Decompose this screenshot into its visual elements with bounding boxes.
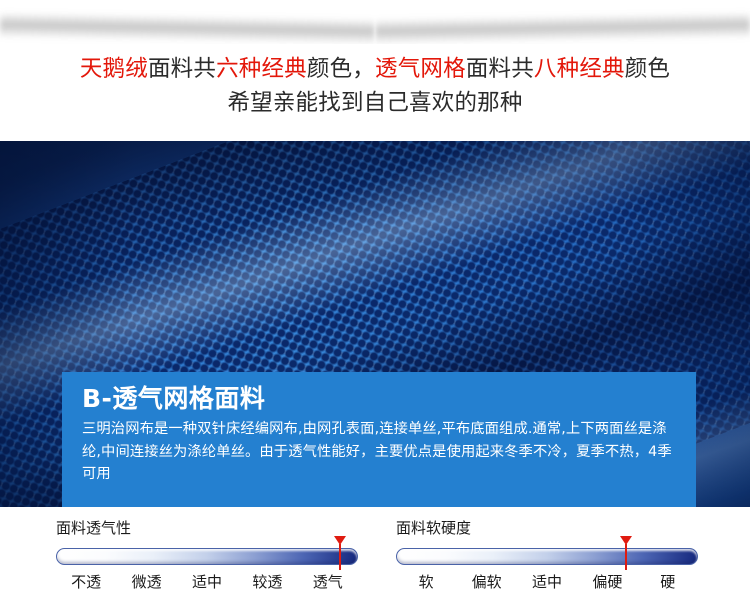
meter-scale-label-breathability-3: 较透	[252, 571, 282, 592]
headline-line-2: 希望亲能找到自己喜欢的那种	[0, 86, 750, 120]
headline-line-1: 天鹅绒面料共六种经典颜色，透气网格面料共八种经典颜色	[0, 52, 750, 86]
top-shadow-right	[375, 0, 750, 44]
meter-scale-softness: 软偏软适中偏硬硬	[396, 571, 698, 595]
meter-scale-label-softness-2: 适中	[532, 571, 562, 592]
meter-title-breathability: 面料透气性	[56, 521, 358, 536]
headline-run-7: 颜色	[625, 56, 670, 82]
headline-run-3: 颜色，	[307, 56, 375, 82]
meter-scale-label-softness-3: 偏硬	[592, 571, 622, 592]
meter-scale-label-softness-1: 偏软	[472, 571, 502, 592]
top-shadow-left	[0, 0, 375, 44]
meter-scale-label-breathability-0: 不透	[71, 571, 101, 592]
headline-run-6: 八种经典	[534, 56, 625, 82]
meter-bar-zone-softness	[396, 544, 698, 566]
page-headline: 天鹅绒面料共六种经典颜色，透气网格面料共八种经典颜色 希望亲能找到自己喜欢的那种	[0, 52, 750, 120]
product-detail-page: 天鹅绒面料共六种经典颜色，透气网格面料共八种经典颜色 希望亲能找到自己喜欢的那种…	[0, 0, 750, 607]
meter-title-softness: 面料软硬度	[396, 521, 698, 536]
marker-stem	[625, 544, 627, 570]
fabric-info-panel: B-透气网格面料 三明治网布是一种双针床经编网布,由网孔表面,连接单丝,平布底面…	[62, 372, 696, 507]
meter-scale-label-breathability-4: 透气	[313, 571, 343, 592]
headline-run-1: 面料共	[148, 56, 216, 82]
meter-scale-label-softness-0: 软	[419, 571, 434, 592]
fabric-rating-meters: 面料透气性不透微透适中较透透气面料软硬度软偏软适中偏硬硬	[0, 507, 750, 607]
fabric-info-body: 三明治网布是一种双针床经编网布,由网孔表面,连接单丝,平布底面组成.通常,上下两…	[82, 418, 678, 486]
fabric-info-title: B-透气网格面料	[82, 384, 678, 414]
meter-gradient-bar-softness[interactable]	[396, 548, 698, 565]
headline-run-4: 透气网格	[375, 56, 466, 82]
meter-scale-label-softness-4: 硬	[660, 571, 675, 592]
headline-run-2: 六种经典	[216, 56, 307, 82]
meter-softness: 面料软硬度软偏软适中偏硬硬	[396, 521, 698, 603]
marker-stem	[339, 544, 341, 570]
meter-scale-label-breathability-2: 适中	[192, 571, 222, 592]
meter-breathability: 面料透气性不透微透适中较透透气	[56, 521, 358, 603]
meter-scale-label-breathability-1: 微透	[132, 571, 162, 592]
meter-bar-zone-breathability	[56, 544, 358, 566]
meter-scale-breathability: 不透微透适中较透透气	[56, 571, 358, 595]
page-top-shadow	[0, 0, 750, 44]
headline-run-0: 天鹅绒	[80, 56, 148, 82]
headline-run-5: 面料共	[466, 56, 534, 82]
meter-gradient-bar-breathability[interactable]	[56, 548, 358, 565]
